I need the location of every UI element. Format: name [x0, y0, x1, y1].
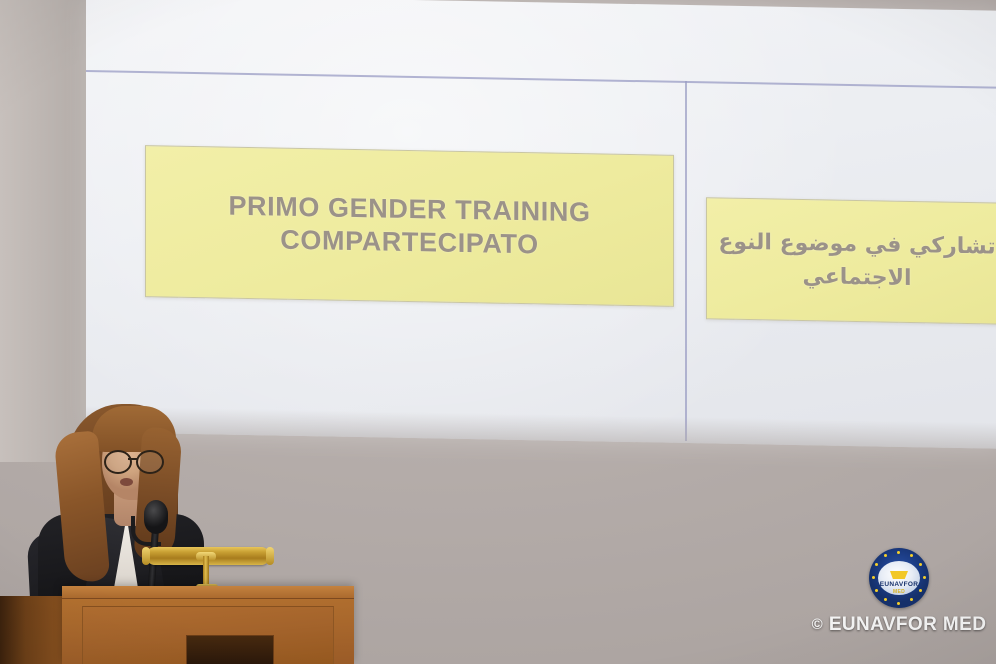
podium [62, 586, 354, 664]
slide-box-italian: PRIMO GENDER TRAINING COMPARTECIPATO [145, 145, 674, 307]
slide-text-arabic: تشاركي في موضوع النوع الاجتماعي [707, 225, 996, 296]
watermark-text: © EUNAVFOR MED [806, 614, 992, 636]
watermark: EUNAVFOR MED © EUNAVFOR MED [806, 548, 992, 650]
slide-rule-vertical [685, 81, 687, 441]
photo-scene: PRIMO GENDER TRAINING COMPARTECIPATO تشا… [0, 0, 996, 664]
eunavfor-med-logo-icon: EUNAVFOR MED [869, 548, 929, 608]
room-wall-left-panel [0, 0, 92, 462]
podium-side-panel [0, 596, 64, 664]
speaker-mouth [120, 478, 133, 486]
podium-lamp-cap-left [142, 547, 150, 565]
podium-top-edge [62, 586, 354, 599]
podium-lamp-cap-right [266, 547, 274, 565]
glasses-lens-right [136, 450, 164, 474]
glasses-icon [104, 450, 162, 470]
slide-rule-horizontal [86, 70, 996, 89]
logo-sublabel: MED [875, 589, 923, 595]
slide-text-italian: PRIMO GENDER TRAINING COMPARTECIPATO [146, 188, 673, 264]
watermark-label: EUNAVFOR MED [829, 614, 987, 635]
copyright-symbol: © [812, 616, 823, 633]
podium-emblem-slot [186, 635, 274, 664]
logo-label: EUNAVFOR [875, 581, 923, 588]
glasses-lens-left [104, 450, 132, 474]
slide-box-arabic: تشاركي في موضوع النوع الاجتماعي [706, 197, 996, 325]
microphone-icon [144, 500, 168, 534]
